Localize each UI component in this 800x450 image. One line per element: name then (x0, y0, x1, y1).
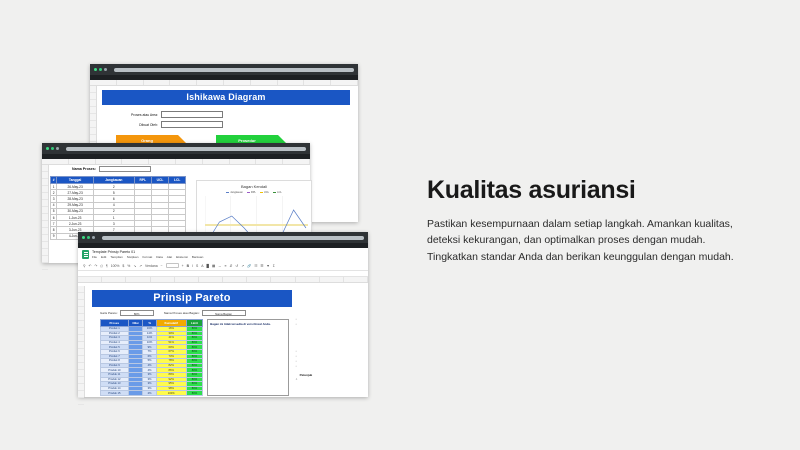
row-header-cell[interactable] (78, 314, 84, 321)
legend-swatch (247, 192, 250, 194)
table-cell[interactable]: Produk 15 (101, 391, 129, 396)
row-header-cell[interactable] (42, 263, 48, 270)
window-controls[interactable] (82, 236, 95, 239)
note-box-title: Bagan ini tidak tersedia di versi Excel … (210, 322, 285, 326)
legend-label: UCL (264, 191, 269, 194)
column-header-cell[interactable] (122, 159, 149, 164)
row-header-cell[interactable] (78, 335, 84, 342)
text-rotation-icon[interactable]: ↗ (241, 264, 244, 268)
bullet-icon: • (296, 324, 297, 327)
row-header-cell[interactable] (78, 384, 84, 391)
legend-item: RPL (247, 191, 256, 194)
close-icon[interactable] (82, 236, 85, 239)
legend-item: LCL (273, 191, 282, 194)
instruction-item: 1. (296, 379, 366, 382)
table-header-row: #TanggalJangkauanRPLUCLLCL (51, 177, 186, 184)
column-header-cell[interactable] (126, 277, 150, 282)
process-name-input[interactable]: Nama Bagian (202, 310, 246, 316)
currency-icon[interactable]: $ (122, 264, 124, 268)
table-cell[interactable]: 80% (186, 391, 203, 396)
column-header-cell[interactable] (344, 277, 368, 282)
process-label: Proses atau Area: (104, 113, 158, 117)
sheets-header: Template Prinsip Pareto 01 FileEditTampi… (78, 248, 368, 259)
row-header-cell[interactable] (78, 370, 84, 377)
menu-item[interactable]: Bantuan (192, 255, 204, 259)
maximize-icon[interactable] (104, 68, 107, 71)
pareto-controls: Garis Pareto: 80% Nama Proses atau Bagia… (100, 310, 366, 316)
table-cell[interactable]: 2% (143, 391, 156, 396)
column-header-cell[interactable] (296, 277, 320, 282)
percent-icon[interactable]: % (127, 264, 130, 268)
pareto-titlebar[interactable] (78, 232, 368, 243)
row-header-cell[interactable] (42, 221, 48, 228)
menu-bar[interactable]: FileEditTampilanSisipkanFormatDataAlatEk… (92, 255, 203, 259)
row-header-cell[interactable] (90, 121, 96, 128)
font-name[interactable]: Verdana (145, 264, 158, 268)
column-header-cell[interactable] (175, 277, 199, 282)
process-name-label: Nama Proses: (72, 167, 96, 171)
ishikawa-banner-title: Ishikawa Diagram (102, 90, 350, 105)
row-header-cell[interactable] (78, 377, 84, 384)
ishikawa-titlebar[interactable] (90, 64, 358, 75)
row-header-cell[interactable] (90, 128, 96, 135)
sheets-toolbar[interactable]: ⚲ ↶ ↷ ⎙ ¶ 100% $ % ↘ ↗ Verdana − + B I S… (78, 261, 368, 271)
ishikawa-form: Proses atau Area: Dibuat Oleh: (98, 111, 354, 128)
row-header-cell[interactable] (90, 135, 96, 142)
instruction-item: • (296, 366, 366, 369)
menu-item[interactable]: Data (156, 255, 163, 259)
row-header-cell[interactable] (42, 193, 48, 200)
legend-swatch (260, 192, 263, 194)
font-size-decrease-icon[interactable]: − (161, 264, 163, 268)
row-header-cell[interactable] (42, 165, 48, 172)
redo-icon[interactable]: ↷ (94, 264, 97, 268)
functions-icon[interactable]: Σ (273, 264, 275, 268)
merge-cells-icon[interactable]: ↔ (218, 264, 221, 268)
row-header-cell[interactable] (78, 300, 84, 307)
menu-item[interactable]: Edit (101, 255, 106, 259)
row-header-cell[interactable] (42, 200, 48, 207)
column-header-cell[interactable] (331, 80, 358, 85)
process-name-input[interactable] (99, 166, 151, 172)
bullet-icon: • (296, 356, 297, 359)
window-controls[interactable] (46, 147, 59, 150)
column-header-cell[interactable] (102, 277, 126, 282)
row-header-cell[interactable] (78, 391, 84, 398)
column-header-cell[interactable] (271, 277, 295, 282)
sheets-logo-icon (82, 250, 89, 259)
menu-item[interactable]: File (92, 255, 97, 259)
row-header-cell[interactable] (42, 207, 48, 214)
borders-icon[interactable]: ▦ (212, 264, 215, 268)
font-size-increase-icon[interactable]: + (182, 264, 184, 268)
print-icon[interactable]: ⎙ (100, 264, 103, 268)
form-row-process: Proses atau Area: (104, 111, 354, 118)
zoom-level[interactable]: 100% (111, 264, 120, 268)
italic-icon[interactable]: I (192, 264, 193, 268)
legend-label: Jangkauan (230, 191, 243, 194)
menu-item[interactable]: Sisipkan (127, 255, 139, 259)
process-name-row: Nama Proses: (50, 166, 308, 172)
legend-swatch (273, 192, 276, 194)
close-icon[interactable] (46, 147, 49, 150)
column-header-cell[interactable] (170, 80, 197, 85)
pareto-sheet-area: Template Prinsip Pareto 01 FileEditTampi… (78, 248, 368, 397)
font-size-input[interactable] (166, 263, 179, 268)
menu-item[interactable]: Ekstensi (176, 255, 188, 259)
process-name-label: Nama Proses atau Bagian: (164, 311, 200, 315)
page-description: Pastikan kesempurnaan dalam setiap langk… (427, 216, 757, 265)
column-header-cell[interactable] (278, 80, 305, 85)
table-column-header: Tanggal (57, 177, 93, 184)
column-headers[interactable] (90, 80, 358, 86)
table-column-header: % (143, 320, 156, 327)
align-icon[interactable]: ≡ (225, 264, 227, 268)
column-header-cell[interactable] (42, 159, 69, 164)
pareto-line-input[interactable]: 80% (120, 310, 154, 316)
filter-icon[interactable]: ▼ (266, 264, 269, 268)
menu-item[interactable]: Tampilan (110, 255, 122, 259)
row-header-cell[interactable] (42, 235, 48, 242)
control-data-table: #TanggalJangkauanRPLUCLLCL 126-May-23222… (50, 176, 186, 240)
row-header-cell[interactable] (78, 328, 84, 335)
legend-swatch (226, 192, 229, 194)
legend-item: UCL (260, 191, 269, 194)
column-header-cell[interactable] (197, 80, 224, 85)
minimize-icon[interactable] (51, 147, 54, 150)
table-column-header: LCL (169, 177, 186, 184)
insert-comment-icon[interactable]: ☷ (254, 264, 257, 268)
instruction-item: • (296, 356, 366, 359)
column-header-cell[interactable] (90, 80, 117, 85)
control-titlebar[interactable] (42, 143, 310, 154)
pareto-data-table: ProsesNilai%KumulatifLimit Produk 116%16… (100, 319, 203, 396)
row-header-cell[interactable] (42, 249, 48, 256)
insert-chart-icon[interactable]: ☰ (260, 264, 263, 268)
column-header-cell[interactable] (117, 80, 144, 85)
row-headers[interactable] (78, 286, 85, 397)
row-header-cell[interactable] (42, 179, 48, 186)
table-cell[interactable] (128, 391, 143, 396)
maximize-icon[interactable] (92, 236, 95, 239)
row-header-cell[interactable] (90, 93, 96, 100)
instruction-item: • (296, 324, 366, 327)
page-title: Kualitas asuriansi (427, 176, 757, 205)
column-header-cell[interactable] (199, 277, 223, 282)
address-bar[interactable] (66, 147, 306, 151)
row-header-cell[interactable] (78, 342, 84, 349)
row-header-cell[interactable] (78, 398, 84, 405)
row-header-cell[interactable] (42, 186, 48, 193)
form-row-author: Dibuat Oleh: (104, 121, 354, 128)
row-header-cell[interactable] (42, 228, 48, 235)
table-column-header: Nilai (128, 320, 143, 327)
column-header-cell[interactable] (283, 159, 310, 164)
minimize-icon[interactable] (99, 68, 102, 71)
table-header-row: ProsesNilai%KumulatifLimit (101, 320, 203, 327)
instruction-item: • (296, 361, 366, 364)
bullet-icon: • (296, 366, 297, 369)
menu-item[interactable]: Alat (167, 255, 172, 259)
table-row[interactable]: Produk 152%100%80% (101, 391, 203, 396)
formula-input[interactable] (92, 272, 93, 276)
row-header-cell[interactable] (90, 100, 96, 107)
row-header-cell[interactable] (78, 293, 84, 300)
chart-title: Bagan Kendali (197, 184, 311, 189)
bullet-icon: • (296, 319, 297, 322)
instruction-item: • (296, 319, 366, 322)
row-header-cell[interactable] (90, 114, 96, 121)
undo-icon[interactable]: ↶ (88, 264, 91, 268)
column-headers[interactable] (42, 159, 310, 165)
pareto-banner-title: Prinsip Pareto (92, 290, 292, 307)
row-header-cell[interactable] (78, 356, 84, 363)
strikethrough-icon[interactable]: S (196, 264, 198, 268)
maximize-icon[interactable] (56, 147, 59, 150)
column-header-cell[interactable] (304, 80, 331, 85)
table-column-header: Proses (101, 320, 129, 327)
bold-icon[interactable]: B (187, 264, 189, 268)
minimize-icon[interactable] (87, 236, 90, 239)
column-header-cell[interactable] (256, 159, 283, 164)
process-input[interactable] (161, 111, 223, 118)
text-block: Kualitas asuriansi Pastikan kesempurnaan… (427, 176, 757, 265)
column-header-cell[interactable] (96, 159, 123, 164)
column-header-cell[interactable] (78, 277, 102, 282)
document-title[interactable]: Template Prinsip Pareto 01 (92, 250, 203, 254)
decimal-increase-icon[interactable]: ↗ (139, 264, 142, 268)
table-column-header: UCL (151, 177, 168, 184)
row-header-cell[interactable] (78, 321, 84, 328)
column-header-cell[interactable] (203, 159, 230, 164)
row-header-cell[interactable] (42, 214, 48, 221)
pareto-line-label: Garis Pareto: (100, 311, 118, 315)
row-header-cell[interactable] (78, 363, 84, 370)
row-header-cell[interactable] (42, 242, 48, 249)
decimal-decrease-icon[interactable]: ↘ (133, 264, 136, 268)
table-column-header: Kumulatif (156, 320, 186, 327)
column-header-cell[interactable] (230, 159, 257, 164)
window-controls[interactable] (94, 68, 107, 71)
column-header-cell[interactable] (251, 80, 278, 85)
column-header-cell[interactable] (320, 277, 344, 282)
column-header-cell[interactable] (223, 277, 247, 282)
row-header-cell[interactable] (78, 307, 84, 314)
bullet-icon: • (296, 361, 297, 364)
column-header-cell[interactable] (247, 277, 271, 282)
column-header-cell[interactable] (151, 277, 175, 282)
chart-legend: JangkauanRPLUCLLCL (197, 191, 311, 194)
bullet-icon: • (296, 351, 297, 354)
pareto-line-control: Garis Pareto: 80% (100, 310, 154, 316)
row-header-cell[interactable] (90, 86, 96, 93)
row-header-cell[interactable] (78, 286, 84, 293)
pareto-instructions: • • • (293, 319, 366, 396)
row-header-cell[interactable] (42, 172, 48, 179)
table-cell[interactable]: 100% (156, 391, 186, 396)
column-header-cell[interactable] (144, 80, 171, 85)
text-wrap-icon[interactable]: ↺ (235, 264, 238, 268)
author-label: Dibuat Oleh: (104, 123, 158, 127)
author-input[interactable] (161, 121, 223, 128)
search-icon[interactable]: ⚲ (83, 264, 85, 268)
process-name-control: Nama Proses atau Bagian: Nama Bagian (164, 310, 246, 316)
paint-format-icon[interactable]: ¶ (106, 264, 108, 268)
column-header-cell[interactable] (176, 159, 203, 164)
column-header-cell[interactable] (69, 159, 96, 164)
column-header-cell[interactable] (149, 159, 176, 164)
column-headers[interactable] (78, 277, 368, 283)
row-header-cell[interactable] (42, 256, 48, 263)
instructions-heading: Petunjuk (300, 373, 366, 377)
row-header-cell[interactable] (78, 349, 84, 356)
slide-canvas: Ishikawa Diagram Proses atau Area: Dibua… (0, 0, 800, 450)
address-bar[interactable] (114, 68, 354, 72)
number-icon: 1. (296, 379, 298, 382)
text-color-icon[interactable]: A (201, 264, 203, 268)
row-header-cell[interactable] (90, 107, 96, 114)
vertical-align-icon[interactable]: ⇵ (230, 264, 233, 268)
table-column-header: Jangkauan (93, 177, 134, 184)
pareto-window[interactable]: Template Prinsip Pareto 01 FileEditTampi… (78, 232, 368, 397)
address-bar[interactable] (102, 236, 364, 240)
close-icon[interactable] (94, 68, 97, 71)
legend-label: RPL (251, 191, 256, 194)
table-column-header: RPL (134, 177, 151, 184)
legend-item: Jangkauan (226, 191, 243, 194)
pareto-note-box: Bagan ini tidak tersedia di versi Excel … (207, 319, 288, 396)
insert-link-icon[interactable]: 🔗 (247, 264, 251, 268)
row-headers[interactable] (42, 165, 49, 263)
legend-label: LCL (277, 191, 282, 194)
fill-color-icon[interactable]: █ (207, 264, 209, 268)
column-header-cell[interactable] (224, 80, 251, 85)
instruction-item: • (296, 351, 366, 354)
table-column-header: Limit (186, 320, 203, 327)
menu-item[interactable]: Format (142, 255, 152, 259)
